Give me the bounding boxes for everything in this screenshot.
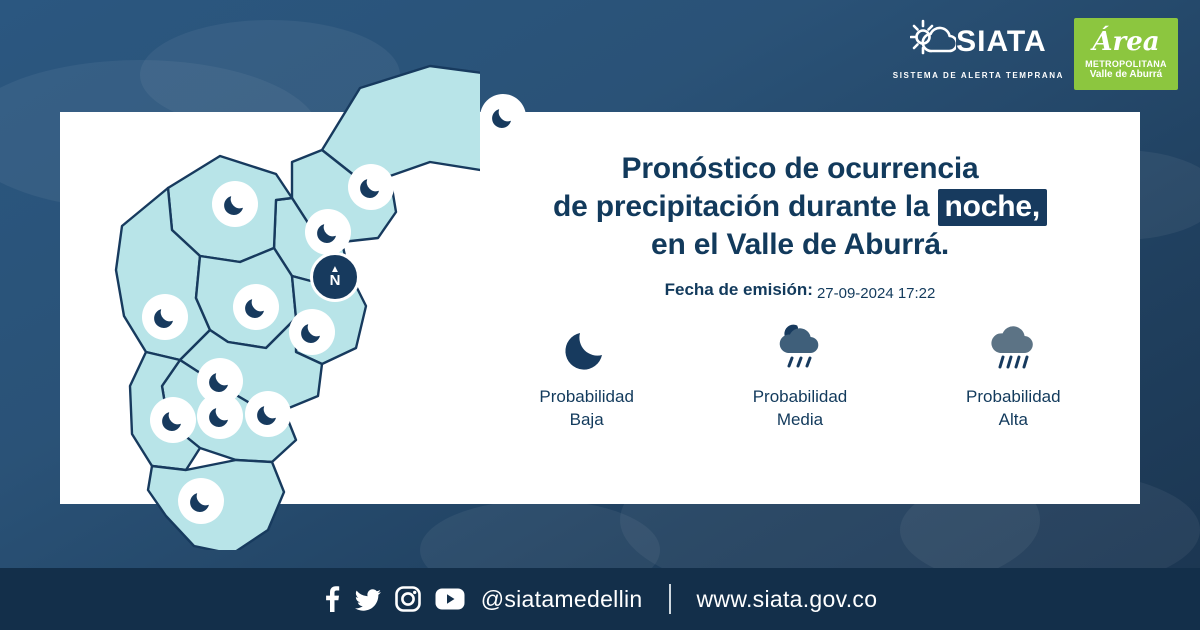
cloud-rain-icon (772, 322, 828, 374)
page-title: Pronóstico de ocurrencia de precipitació… (480, 150, 1120, 264)
legend-media-line-2: Media (753, 409, 848, 432)
municipality-marker (212, 181, 258, 227)
probability-legend: Probabilidad Baja Probabilidad Media (480, 322, 1120, 432)
poster-root: SIATA SISTEMA DE ALERTA TEMPRANA Área ME… (0, 0, 1200, 630)
legend-label-media: Probabilidad Media (753, 386, 848, 432)
logo-group: SIATA SISTEMA DE ALERTA TEMPRANA Área ME… (893, 18, 1178, 90)
instagram-icon[interactable] (395, 586, 421, 612)
social-icons (323, 586, 465, 612)
municipality-marker (150, 397, 196, 443)
siata-tagline: SISTEMA DE ALERTA TEMPRANA (893, 71, 1064, 80)
legend-label-baja: Probabilidad Baja (539, 386, 634, 432)
municipality-marker (197, 393, 243, 439)
legend-item-media: Probabilidad Media (710, 322, 890, 432)
headline-line-1: Pronóstico de ocurrencia (480, 150, 1120, 188)
headline-line-3: en el Valle de Aburrá. (480, 226, 1120, 264)
area-line-1: METROPOLITANA (1085, 59, 1167, 69)
moon-icon (562, 322, 612, 374)
area-wordmark: Área (1092, 29, 1159, 55)
siata-logo: SIATA SISTEMA DE ALERTA TEMPRANA (893, 18, 1064, 80)
municipality-marker (305, 209, 351, 255)
emission-date: Fecha de emisión:27-09-2024 17:22 (480, 280, 1120, 300)
emission-value: 27-09-2024 17:22 (817, 285, 935, 302)
headline-highlight: noche, (938, 189, 1047, 226)
area-line-2: Valle de Aburrá (1090, 69, 1162, 80)
legend-alta-line-2: Alta (966, 409, 1061, 432)
legend-media-line-1: Probabilidad (753, 386, 848, 409)
legend-item-alta: Probabilidad Alta (923, 322, 1103, 432)
municipality-marker (245, 391, 291, 437)
municipality-marker (480, 94, 526, 140)
municipality-marker (348, 164, 394, 210)
siata-wordmark: SIATA (956, 25, 1047, 59)
cloud-heavy-rain-icon (985, 322, 1041, 374)
youtube-icon[interactable] (435, 588, 465, 610)
twitter-icon[interactable] (355, 586, 381, 612)
municipality-marker (289, 309, 335, 355)
legend-label-alta: Probabilidad Alta (966, 386, 1061, 432)
area-metropolitana-logo: Área METROPOLITANA Valle de Aburrá (1074, 18, 1178, 90)
municipality-marker (178, 478, 224, 524)
municipality-marker (142, 294, 188, 340)
compass-rose: ▲ N (310, 252, 360, 302)
social-handle[interactable]: @siatamedellin (481, 586, 643, 613)
compass-label: N (330, 273, 341, 288)
sun-cloud-icon (910, 18, 956, 65)
footer-bar: @siatamedellin www.siata.gov.co (0, 568, 1200, 630)
footer-divider (669, 584, 671, 614)
valle-de-aburra-map: ▲ N (60, 30, 480, 550)
legend-item-baja: Probabilidad Baja (497, 322, 677, 432)
headline-line-2-text: de precipitación durante la (553, 190, 938, 223)
legend-baja-line-1: Probabilidad (539, 386, 634, 409)
emission-label: Fecha de emisión: (665, 280, 813, 299)
headline-panel: Pronóstico de ocurrencia de precipitació… (480, 150, 1120, 300)
facebook-icon[interactable] (323, 586, 341, 612)
municipality-marker (233, 284, 279, 330)
website-url[interactable]: www.siata.gov.co (697, 586, 878, 613)
legend-alta-line-1: Probabilidad (966, 386, 1061, 409)
headline-line-2: de precipitación durante la noche, (480, 188, 1120, 226)
legend-baja-line-2: Baja (539, 409, 634, 432)
